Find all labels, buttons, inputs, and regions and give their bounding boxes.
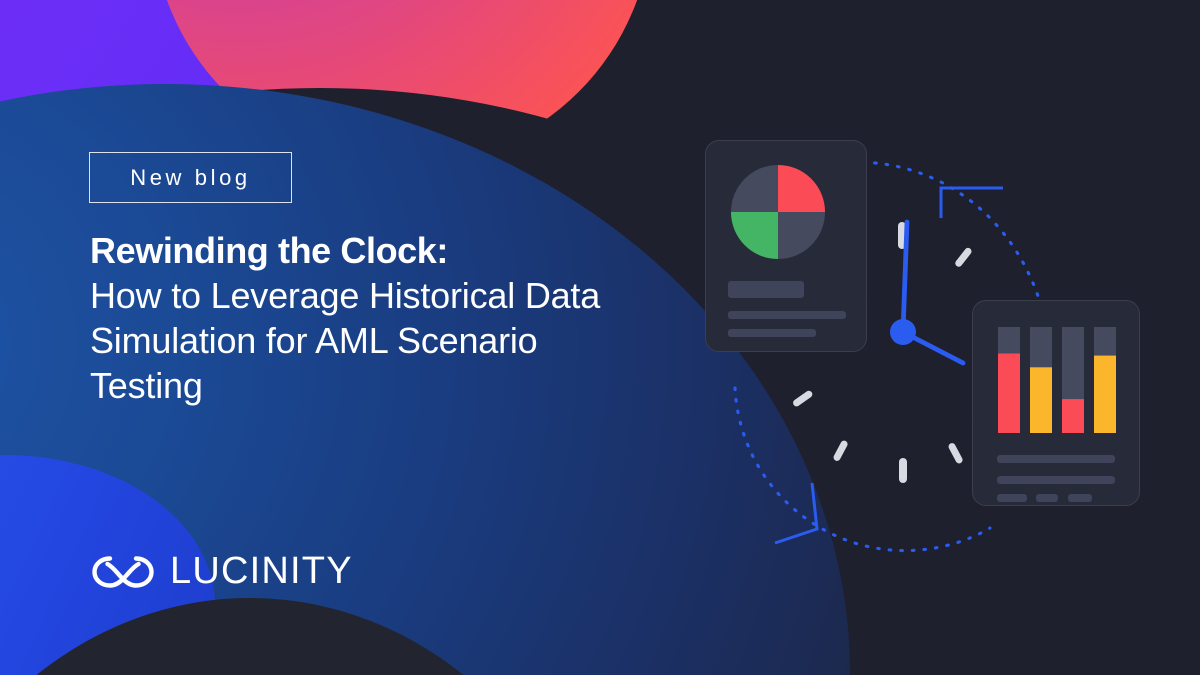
brand-logo: LUCINITY xyxy=(90,550,353,593)
skeleton-chip xyxy=(1036,494,1058,502)
skeleton-chip xyxy=(1068,494,1092,502)
skeleton-line xyxy=(728,329,816,337)
page-title: Rewinding the Clock: How to Leverage His… xyxy=(90,228,650,408)
promo-canvas: New blog Rewinding the Clock: How to Lev… xyxy=(0,0,1200,675)
infinity-loop-icon xyxy=(90,552,156,592)
bar-chart-icon xyxy=(998,327,1118,433)
bar-chart-card xyxy=(972,300,1140,506)
historical-data-simulation-illustration xyxy=(660,100,1180,560)
skeleton-chip xyxy=(997,494,1027,502)
headline-line-2: How to Leverage Historical xyxy=(90,275,515,316)
skeleton-block xyxy=(728,281,804,298)
brand-name: LUCINITY xyxy=(170,550,353,593)
new-blog-badge: New blog xyxy=(89,152,292,203)
headline-line-1: Rewinding the Clock: xyxy=(90,228,650,273)
clock-hub xyxy=(890,319,916,345)
skeleton-line xyxy=(997,476,1115,484)
pie-chart-card xyxy=(705,140,867,352)
skeleton-line xyxy=(997,455,1115,463)
new-blog-badge-label: New blog xyxy=(130,165,251,191)
skeleton-line xyxy=(728,311,846,319)
pie-chart-icon xyxy=(729,163,827,261)
